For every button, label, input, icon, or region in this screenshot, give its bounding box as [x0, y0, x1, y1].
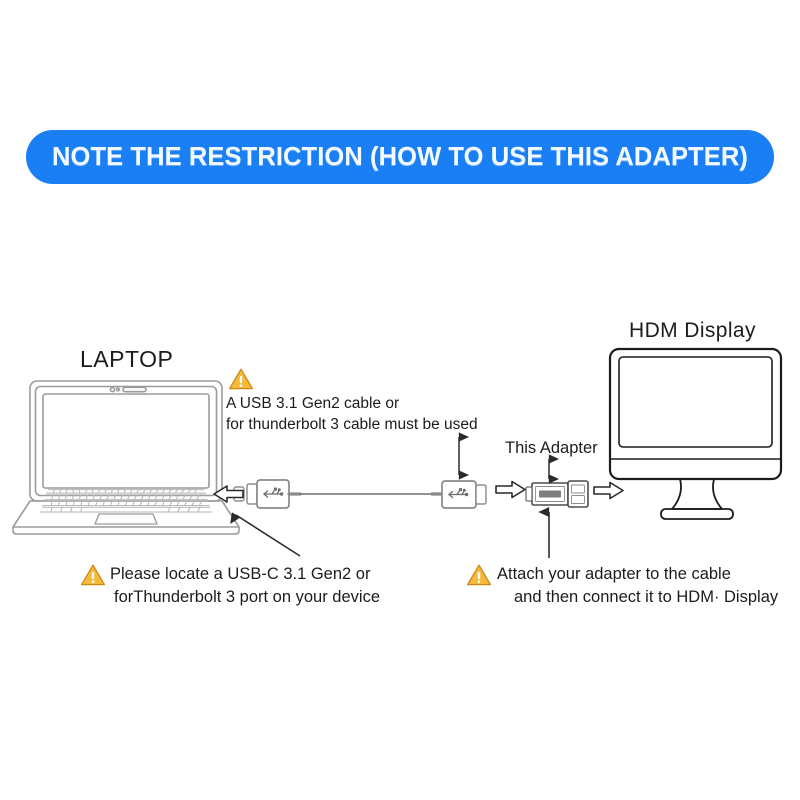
arrow-adapter-to-display [594, 483, 623, 499]
cable-note-line-2: for thunderbolt 3 cable must be used [226, 415, 478, 436]
monitor-illustration [610, 349, 781, 519]
usb-c-connector-right [432, 481, 486, 508]
laptop-usbc-port [234, 487, 244, 501]
usb-c-to-hdmi-adapter [526, 481, 588, 507]
note-banner-text: NOTE THE RESTRICTION (HOW TO USE THIS AD… [52, 143, 748, 172]
port-note-line-1: Please locate a USB-C 3.1 Gen2 or [110, 563, 380, 586]
laptop-label: LAPTOP [80, 345, 173, 374]
laptop-keyboard [40, 490, 211, 512]
laptop-illustration [13, 381, 239, 534]
arrow-cable-to-adapter [496, 482, 525, 498]
usb-c-connector-left [247, 480, 432, 508]
port-note: Please locate a USB-C 3.1 Gen2 or forThu… [110, 563, 380, 609]
cable-note-line-1: A USB 3.1 Gen2 cable or [226, 394, 478, 415]
adapter-note-line-1: Attach your adapter to the cable [497, 563, 778, 586]
display-label: HDM Display [629, 318, 756, 345]
port-note-line-2: forThunderbolt 3 port on your device [114, 586, 380, 609]
note-banner: NOTE THE RESTRICTION (HOW TO USE THIS AD… [26, 130, 774, 184]
warning-triangle-icon [466, 563, 492, 587]
adapter-note-line-2: and then connect it to HDM· Display [514, 586, 778, 609]
leader-laptop-port [236, 515, 300, 556]
adapter-note: Attach your adapter to the cable and the… [497, 563, 778, 609]
this-adapter-label: This Adapter [505, 438, 598, 459]
warning-triangle-icon [228, 367, 254, 391]
arrow-to-laptop-port [214, 486, 243, 502]
cable-note: A USB 3.1 Gen2 cable or for thunderbolt … [226, 394, 478, 436]
warning-triangle-icon [80, 563, 106, 587]
diagram-canvas: NOTE THE RESTRICTION (HOW TO USE THIS AD… [0, 0, 800, 800]
